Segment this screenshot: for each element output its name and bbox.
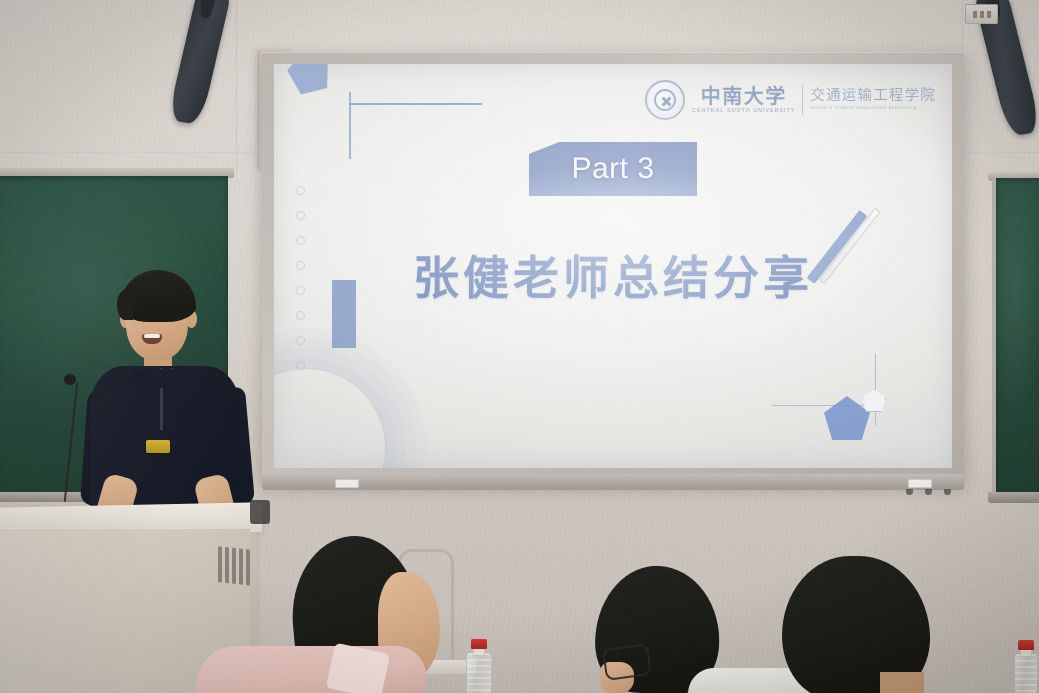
microphone-icon [64,374,76,385]
presenter-hair [120,270,196,322]
bottle-cap [1018,640,1033,650]
wall-outlet [965,4,998,24]
pentagon-shape-blue [824,396,870,440]
screen-label-left [335,479,359,488]
department-name-cn: 交通运输工程学院 [810,89,936,104]
podium-cable-box [250,500,270,524]
corner-arcs-decoration [274,368,386,468]
part-number-banner: Part 3 [529,142,697,196]
presenter-badge [146,440,170,453]
logo-text-group: 中南大学 CENTRAL SOUTH UNIVERSITY 交通运输工程学院 S… [692,85,936,115]
bottle-body [466,652,492,693]
presenter-mouth [142,334,162,344]
screen-clip-b [925,489,932,495]
chalk-dust-texture [996,178,1039,498]
chalkboard-right [992,178,1039,498]
presenter [78,262,258,512]
slide-title: 张健老师总结分享 [274,242,952,308]
screen-clip-a [906,489,913,495]
screen-clip-c [944,489,951,495]
central-south-university-emblem-icon [645,80,685,120]
cross-line-horizontal [349,103,482,105]
cross-line-vertical [349,92,351,159]
corner-pentagon-icon [284,64,335,96]
presenter-shirt-placket [160,388,163,430]
department-name-en: School of Traffic&Transportation Enginee… [810,106,936,111]
audience-right-neck [880,672,924,693]
audience-front-left-body [196,646,426,693]
screen-bottom-bar [262,474,964,490]
department-name-block: 交通运输工程学院 School of Traffic&Transportatio… [810,89,936,111]
university-name-cn: 中南大学 [692,86,795,106]
university-name-en: CENTRAL SOUTH UNIVERSITY [692,109,795,114]
bottle-ribs [1015,654,1037,693]
water-bottle-2 [1014,640,1038,693]
classroom-photo: 中南大学 CENTRAL SOUTH UNIVERSITY 交通运输工程学院 S… [0,0,1039,693]
water-bottle-1 [466,639,492,693]
projection-screen-surface[interactable]: 中南大学 CENTRAL SOUTH UNIVERSITY 交通运输工程学院 S… [274,64,952,468]
university-name-block: 中南大学 CENTRAL SOUTH UNIVERSITY [692,86,795,114]
pentagon-node-outline [862,389,886,412]
screen-label-right [908,479,932,488]
bottle-ribs [467,653,491,693]
chalkboard-right-bottom-frame [988,492,1039,503]
university-logo: 中南大学 CENTRAL SOUTH UNIVERSITY 交通运输工程学院 S… [645,80,936,120]
part-number-label: Part 3 [571,152,654,186]
logo-divider [802,85,803,115]
bottle-cap [471,639,488,649]
projection-screen-frame: 中南大学 CENTRAL SOUTH UNIVERSITY 交通运输工程学院 S… [262,52,964,482]
wall-groove-left [236,0,239,175]
podium-vent-grille [218,546,252,586]
eyeglasses-icon [602,643,652,681]
bottle-body [1014,653,1038,693]
